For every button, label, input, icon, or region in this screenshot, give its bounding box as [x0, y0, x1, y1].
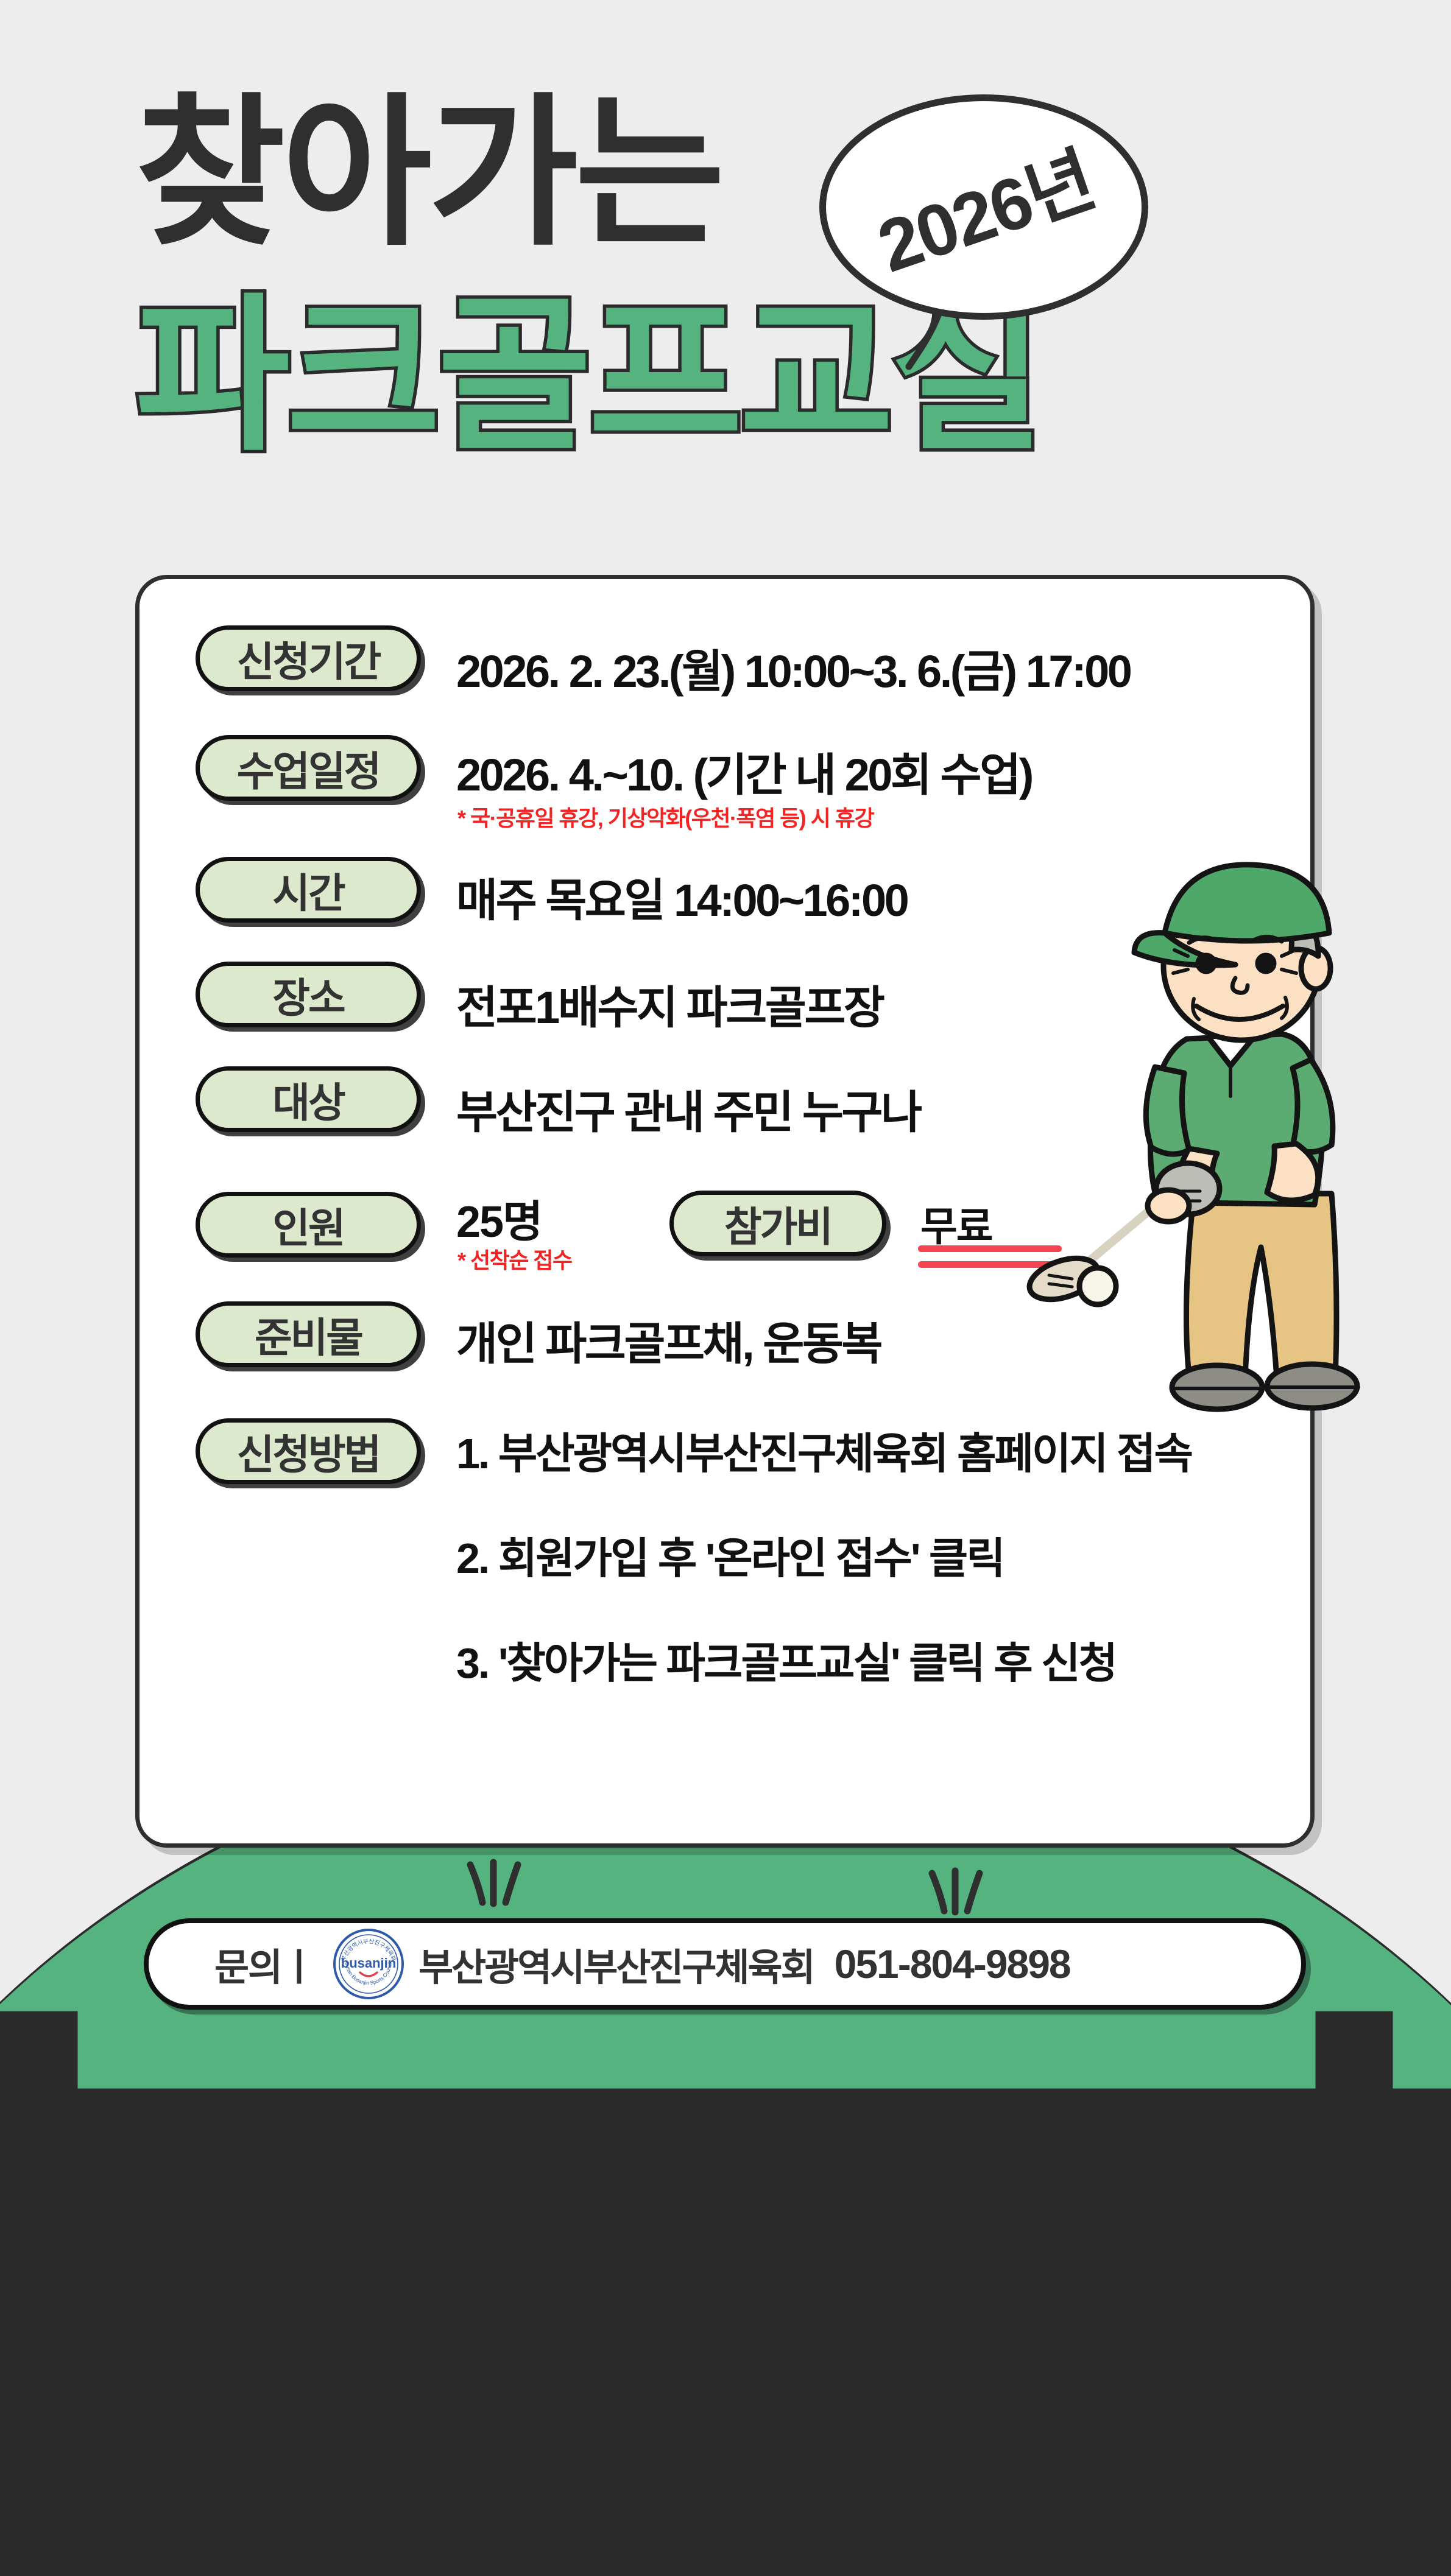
inquiry-label: 문의ㅣ: [214, 1937, 315, 1991]
title-line-1: 찾아가는: [135, 91, 721, 255]
eye-left: [1198, 955, 1214, 971]
row-label-capacity: 인원: [196, 1192, 421, 1258]
row-value-fee: 무료: [920, 1194, 992, 1253]
apply-step-2: 2. 회원가입 후 '온라인 접수' 클릭: [456, 1524, 1004, 1586]
row-value-items: 개인 파크골프채, 운동복: [456, 1307, 881, 1373]
grass-tuft-right: [922, 1865, 989, 1922]
row-label-application-period: 신청기간: [196, 625, 421, 691]
row-label-time: 시간: [196, 857, 421, 923]
green-hill-background: [0, 1723, 1451, 2576]
poster-title-block: 찾아가는 파크골프교실: [0, 0, 1451, 579]
organization-name: 부산광역시부산진구체육회: [418, 1937, 813, 1991]
contact-footer-bar: 문의ㅣ 부산광역시부산진구체육회 Busan Busanjin Sports C…: [144, 1918, 1306, 2010]
golfer-illustration: [1011, 853, 1450, 1462]
row-label-class-schedule: 수업일정: [196, 735, 421, 801]
golf-ball-icon: [1079, 1268, 1116, 1304]
cap: [1165, 865, 1329, 941]
row-value-time: 매주 목요일 14:00~16:00: [456, 864, 907, 929]
row-note-capacity: * 선착순 접수: [457, 1243, 572, 1275]
row-label-target: 대상: [196, 1066, 421, 1132]
row-label-fee: 참가비: [669, 1191, 886, 1256]
eye-right: [1258, 955, 1274, 971]
busanjin-logo-icon: 부산광역시부산진구체육회 Busan Busanjin Sports Counc…: [332, 1927, 405, 2001]
row-value-place: 전포1배수지 파크골프장: [456, 971, 883, 1036]
svg-text:busanjin: busanjin: [341, 1955, 396, 1971]
grass-tuft-left: [461, 1856, 528, 1913]
row-value-capacity: 25명: [456, 1186, 542, 1250]
contact-phone: 051-804-9898: [835, 1941, 1070, 1987]
row-note-class-schedule: * 국·공휴일 휴강, 기상악화(우천·폭염 등) 시 휴강: [457, 801, 874, 832]
row-label-place: 장소: [196, 962, 421, 1027]
year-badge-text: 2026년: [862, 121, 1105, 293]
row-value-target: 부산진구 관내 주민 누구나: [456, 1076, 920, 1141]
row-label-how-to-apply: 신청방법: [196, 1418, 421, 1484]
row-value-class-schedule: 2026. 4.~10. (기간 내 20회 수업): [456, 739, 1032, 804]
year-speech-bubble: 2026년: [819, 94, 1148, 320]
apply-step-3: 3. '찾아가는 파크골프교실' 클릭 후 신청: [456, 1629, 1116, 1691]
row-label-items: 준비물: [196, 1301, 421, 1367]
row-value-application-period: 2026. 2. 23.(월) 10:00~3. 6.(금) 17:00: [456, 635, 1130, 700]
